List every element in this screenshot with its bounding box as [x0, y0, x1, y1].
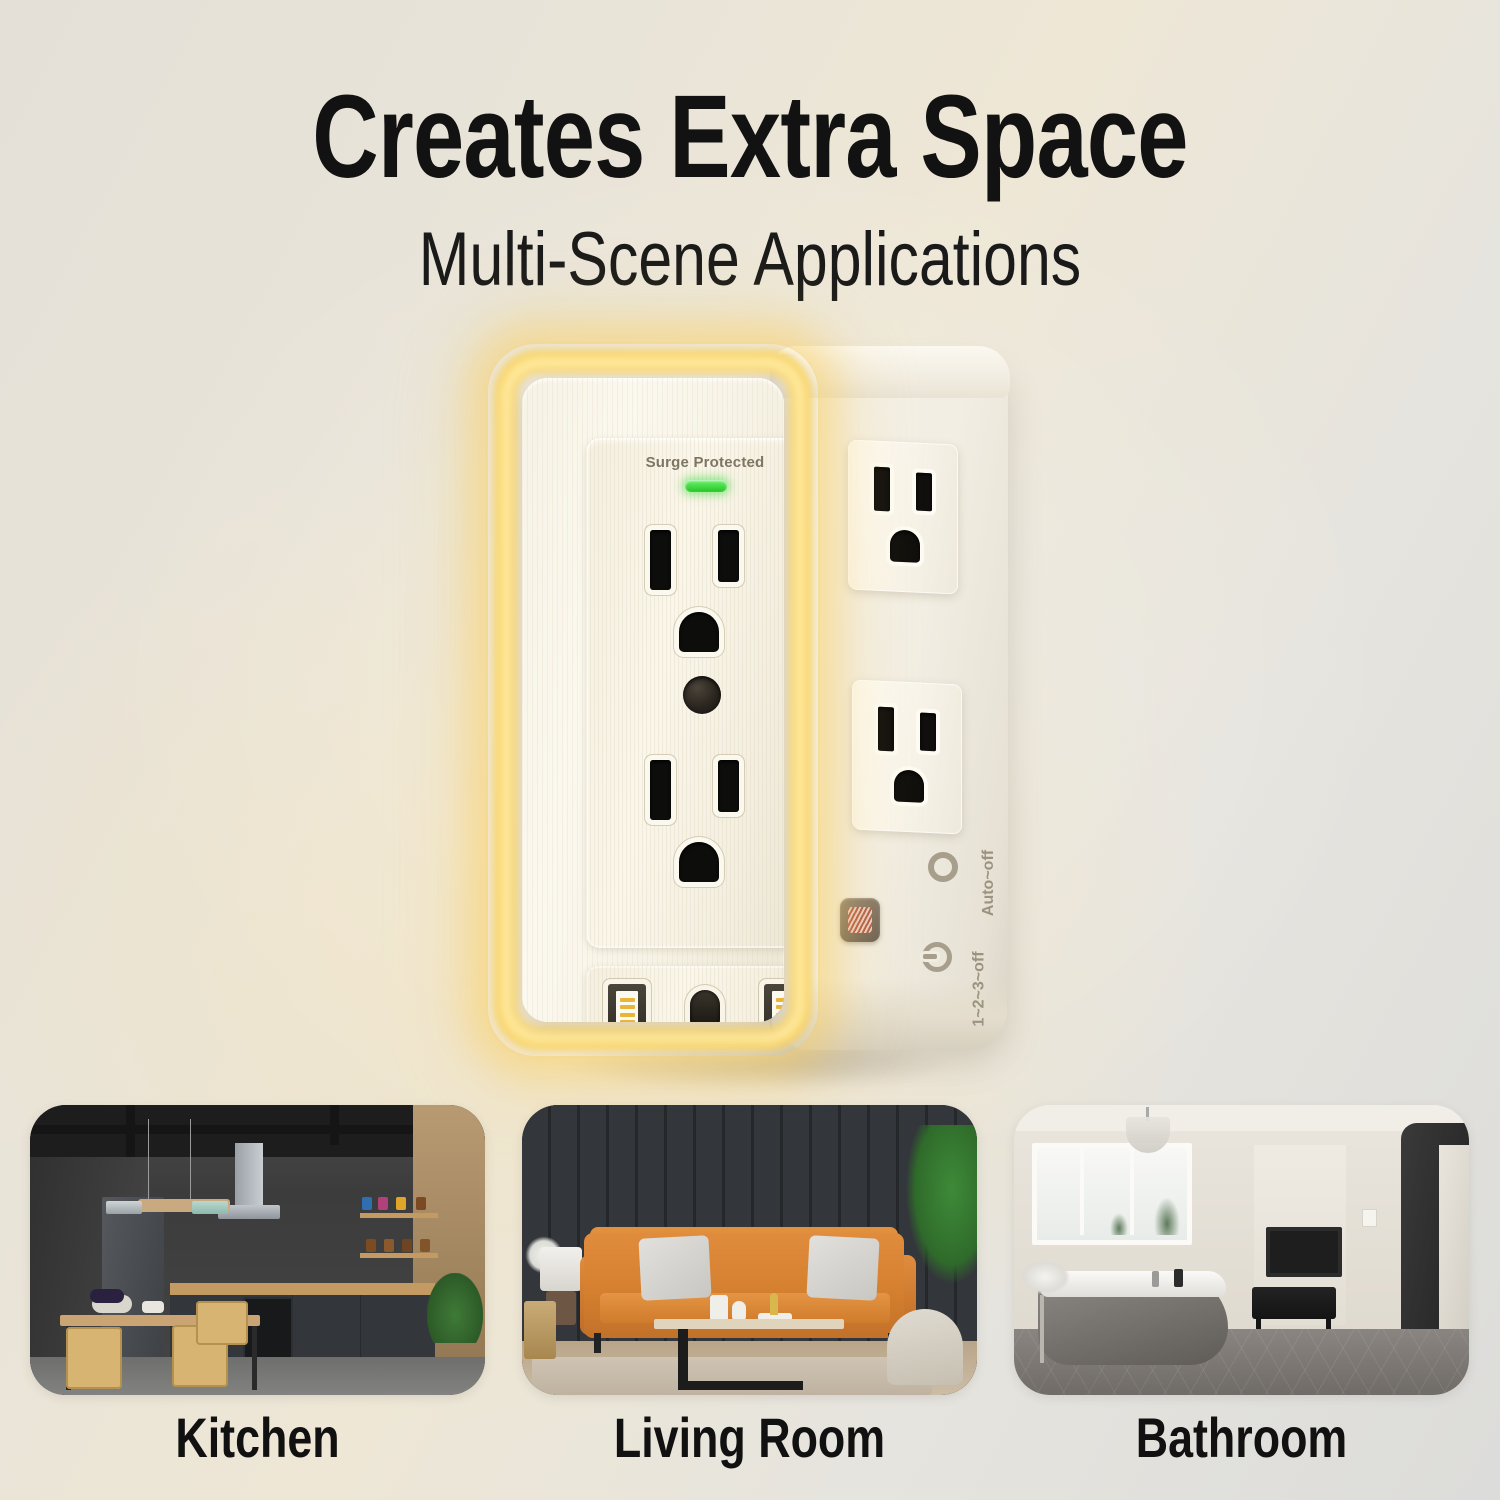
mounting-screw-hole [683, 676, 721, 714]
front-outlet-top[interactable] [586, 508, 784, 653]
scene-caption-bathroom: Bathroom [1060, 1405, 1424, 1470]
product-faceplate: Surge Protected [522, 378, 784, 1022]
outlet-blade-slot [718, 530, 739, 582]
light-sensor [840, 898, 880, 942]
outlet-ground-pin [894, 769, 924, 802]
surge-protected-led [685, 480, 727, 492]
usb-a-tongue [772, 991, 784, 1022]
usb-panel: 5V=2.4A 5V=3A 5V=2.4A [586, 966, 784, 1022]
usb-a-port-right[interactable] [764, 984, 784, 1022]
outlet-ground-pin [679, 842, 719, 882]
brightness-mode-control[interactable]: 1~2~3~off [922, 942, 952, 972]
headline-subtitle: Multi-Scene Applications [150, 222, 1350, 298]
scene-caption-living-room: Living Room [568, 1405, 932, 1470]
scene-card-bathroom: Bathroom [1014, 1105, 1469, 1470]
scene-card-living-room: Living Room [522, 1105, 977, 1470]
usb-c-port[interactable] [690, 990, 720, 1022]
product-image: Auto~off 1~2~3~off Surge Protected [470, 330, 1050, 1090]
scene-caption-kitchen: Kitchen [76, 1405, 440, 1470]
front-outlet-panel: Surge Protected [586, 438, 784, 948]
scene-card-kitchen: Kitchen [30, 1105, 485, 1470]
usb-a-tongue [616, 991, 638, 1022]
auto-off-control[interactable]: Auto~off [928, 852, 958, 882]
usb-a-port-left[interactable] [608, 984, 646, 1022]
side-outlet-bottom[interactable] [852, 680, 962, 835]
scene-gallery: Kitchen [0, 1105, 1500, 1500]
outlet-blade-slot [874, 467, 890, 512]
product-marketing-image: Creates Extra Space Multi-Scene Applicat… [0, 0, 1500, 1500]
outlet-blade-slot [650, 530, 671, 590]
outlet-blade-slot [718, 760, 739, 812]
outlet-blade-slot [878, 707, 894, 752]
header-block: Creates Extra Space Multi-Scene Applicat… [0, 78, 1500, 298]
kitchen-photo [30, 1105, 485, 1395]
auto-off-label: Auto~off [980, 850, 998, 916]
outlet-ground-pin [890, 529, 920, 562]
brightness-mode-label: 1~2~3~off [971, 951, 989, 1026]
outlet-blade-slot [916, 473, 932, 512]
headline-title: Creates Extra Space [165, 78, 1335, 196]
side-outlet-top[interactable] [848, 440, 958, 595]
outlet-blade-slot [920, 713, 936, 752]
outlet-blade-slot [650, 760, 671, 820]
circle-icon [928, 852, 958, 882]
surge-protected-label: Surge Protected [586, 454, 784, 471]
bathroom-photo [1014, 1105, 1469, 1395]
light-sensor-icon [848, 907, 872, 933]
front-outlet-bottom[interactable] [586, 738, 784, 883]
power-icon [922, 942, 952, 972]
living-room-photo [522, 1105, 977, 1395]
outlet-ground-pin [679, 612, 719, 652]
